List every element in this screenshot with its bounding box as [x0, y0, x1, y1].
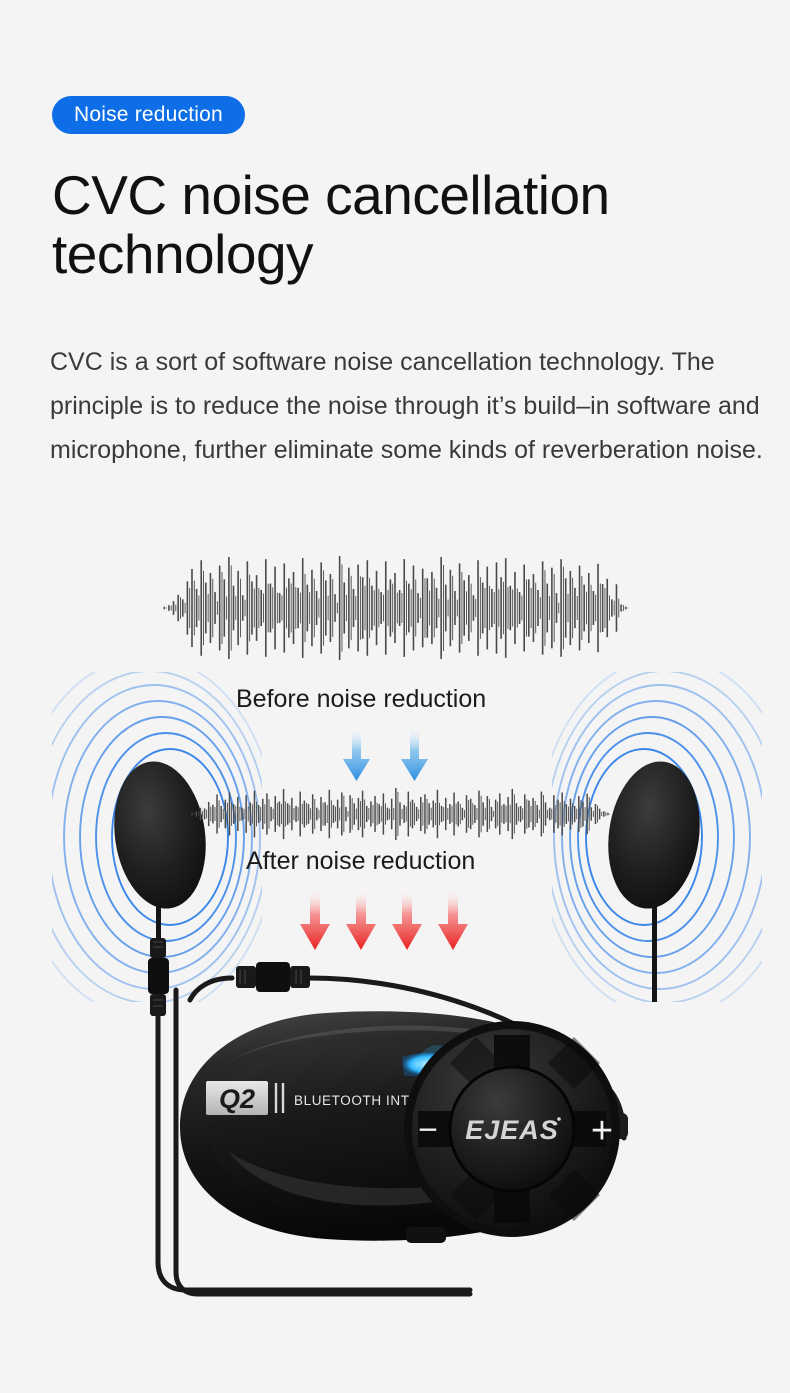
- model-badge-text: Q2: [219, 1084, 255, 1114]
- waveform-before: [162, 556, 628, 660]
- noise-reduction-diagram: Before noise reduction After noise reduc…: [0, 540, 790, 1393]
- volume-down-icon: −: [418, 1111, 438, 1149]
- cable-inline-connector: [236, 962, 310, 992]
- intercom-device: Q2 BLUETOOTH INTERCOM: [150, 995, 640, 1255]
- brand-logo-text: EJEAS: [465, 1115, 559, 1145]
- section-badge: Noise reduction: [52, 96, 245, 134]
- body-paragraph: CVC is a sort of software noise cancella…: [50, 340, 780, 472]
- device-mount-nub: [406, 1227, 446, 1243]
- blue-arrow-1: [343, 725, 370, 781]
- product-feature-page: Noise reduction CVC noise cancellation t…: [0, 0, 790, 1393]
- page-title: CVC noise cancellation technology: [52, 166, 742, 284]
- section-badge-label: Noise reduction: [74, 103, 223, 127]
- label-before-noise-reduction: Before noise reduction: [236, 685, 486, 714]
- volume-up-icon: +: [591, 1110, 613, 1152]
- waveform-after: [190, 788, 610, 840]
- blue-arrow-2: [401, 725, 428, 781]
- blue-down-arrows: [330, 725, 450, 781]
- brand-trademark-dot: [557, 1117, 561, 1121]
